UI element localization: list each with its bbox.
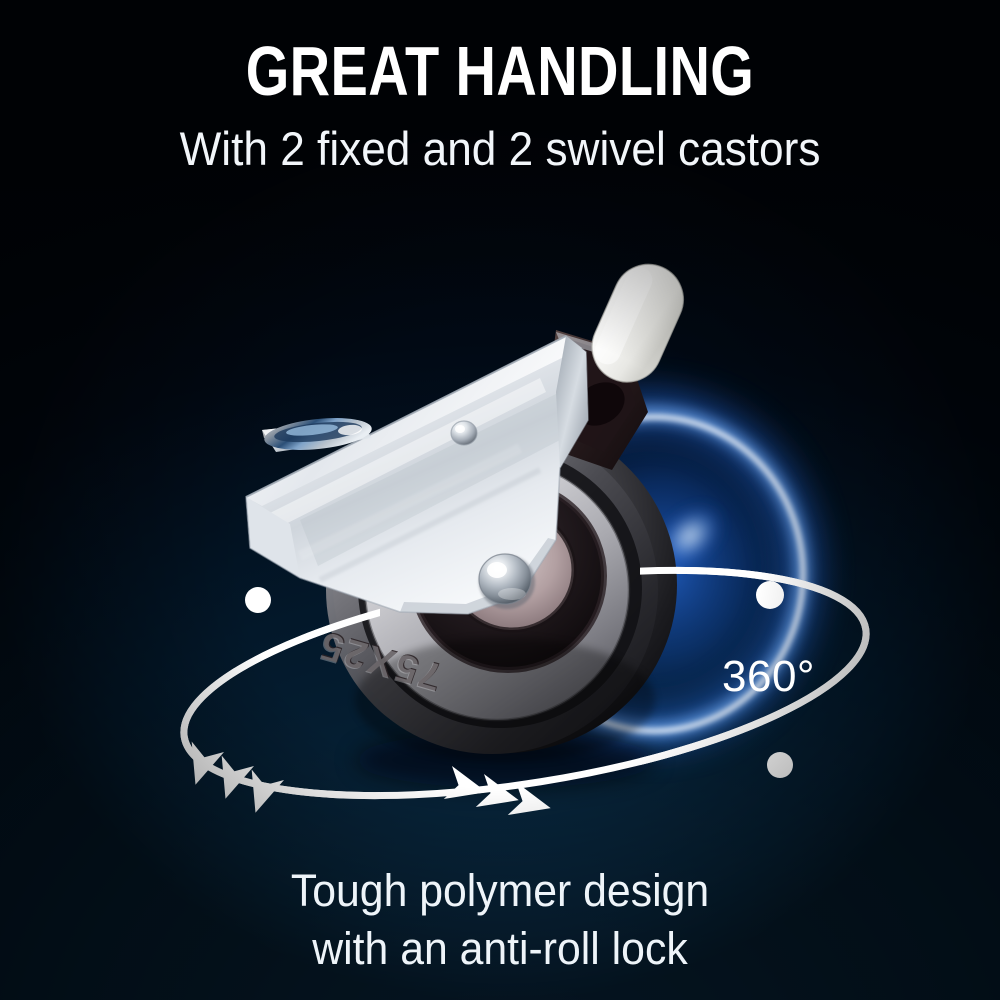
footer-caption-line-2: with an anti-roll lock [25,920,975,978]
footer-caption-line-1: Tough polymer design [25,862,975,920]
footer-caption: Tough polymer design with an anti-roll l… [25,862,975,978]
page-subtitle: With 2 fixed and 2 swivel castors [30,124,970,175]
page-title: GREAT HANDLING [100,36,900,106]
marketing-poster: 75X25 75X25 [0,0,1000,1000]
rotation-degree-label: 360° [722,652,815,702]
